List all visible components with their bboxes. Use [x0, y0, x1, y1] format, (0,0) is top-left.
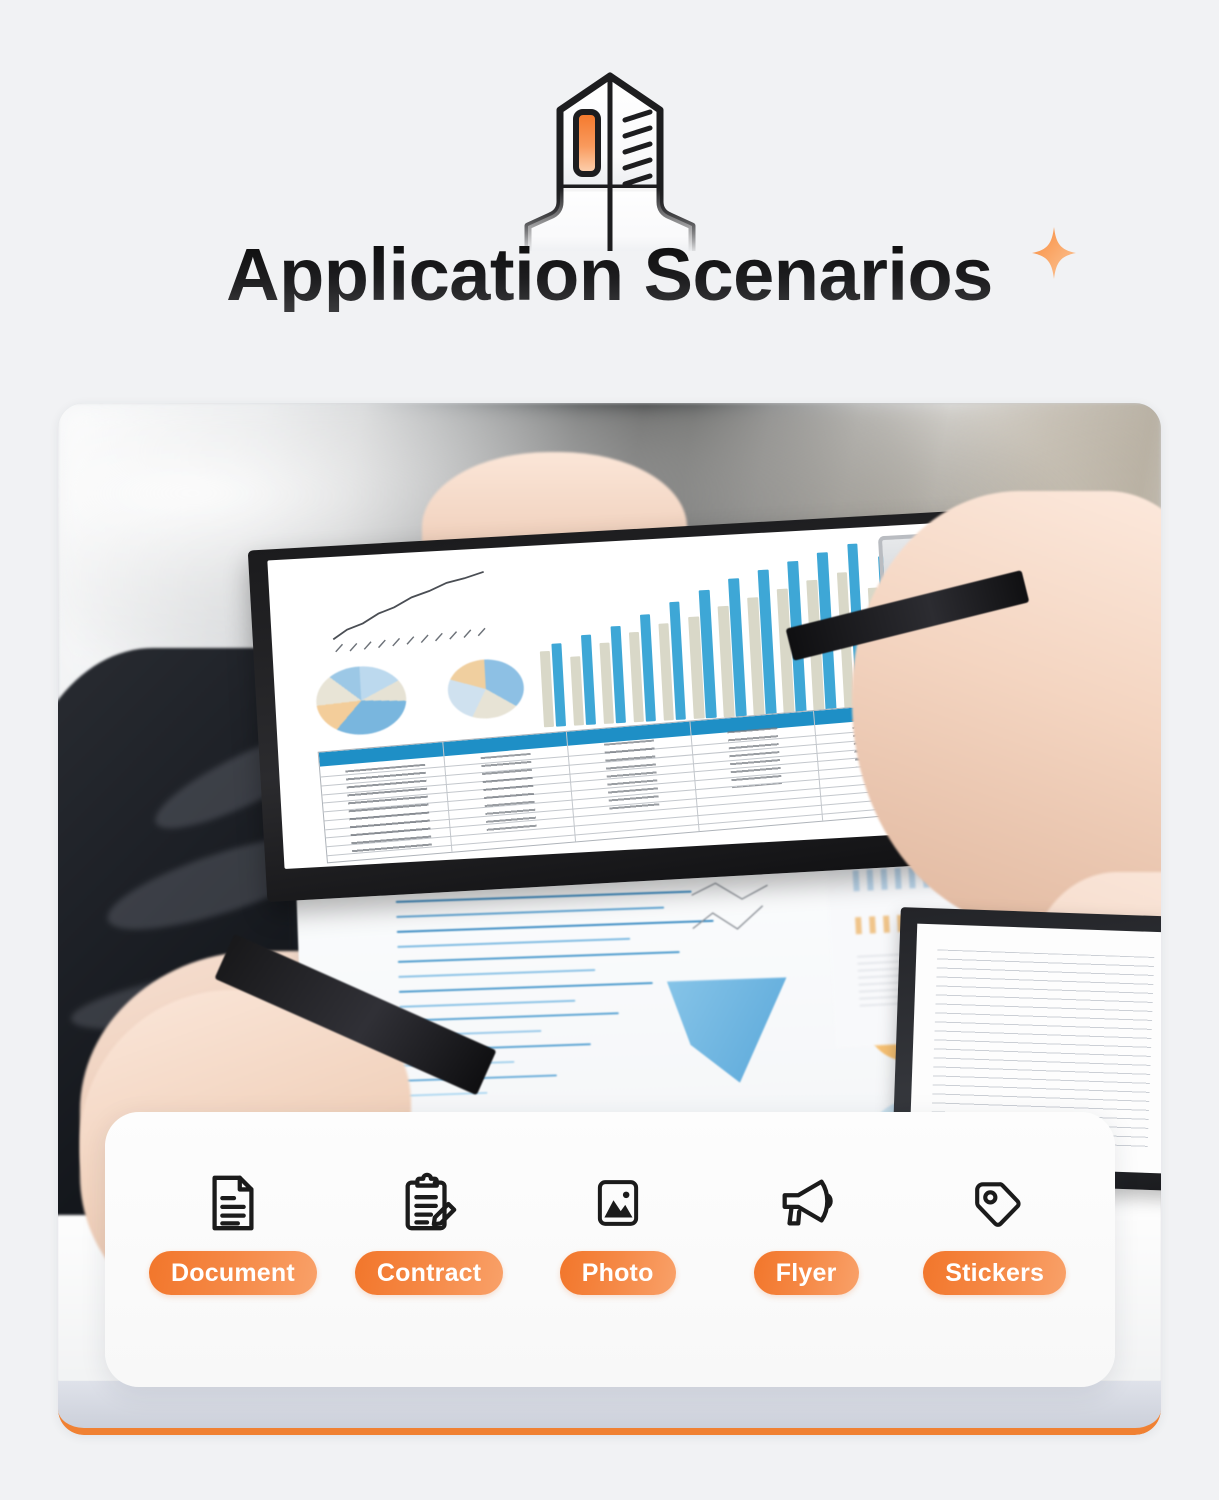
- feature-item-document[interactable]: Document: [149, 1168, 317, 1295]
- price-tag-icon: [960, 1168, 1030, 1238]
- feature-item-photo[interactable]: Photo: [541, 1168, 694, 1295]
- feature-list: Document Contract: [105, 1168, 1115, 1295]
- document-page-icon: [198, 1168, 268, 1238]
- scenario-feature-card: Document Contract: [105, 1112, 1115, 1387]
- feature-pill-flyer[interactable]: Flyer: [754, 1251, 859, 1295]
- application-scenarios-page: Application Scenarios: [0, 0, 1219, 1500]
- feature-pill-document[interactable]: Document: [149, 1251, 317, 1295]
- photo-clipboard-pie-2: [446, 658, 525, 721]
- feature-item-flyer[interactable]: Flyer: [730, 1168, 883, 1295]
- page-header: Application Scenarios: [0, 0, 1219, 390]
- clipboard-pencil-icon: [394, 1168, 464, 1238]
- feature-item-stickers[interactable]: Stickers: [918, 1168, 1071, 1295]
- photo-bottom-accent-strip: [58, 1381, 1161, 1435]
- building-skyscraper-icon: [500, 66, 720, 251]
- photo-line-doodle: [649, 872, 821, 952]
- feature-pill-contract[interactable]: Contract: [355, 1251, 503, 1295]
- photo-trend-line-chart: [295, 564, 534, 658]
- image-photo-icon: [583, 1168, 653, 1238]
- megaphone-icon: [771, 1168, 841, 1238]
- photo-funnel-chart: [666, 977, 790, 1085]
- feature-pill-stickers[interactable]: Stickers: [923, 1251, 1066, 1295]
- feature-item-contract[interactable]: Contract: [353, 1168, 506, 1295]
- feature-pill-photo[interactable]: Photo: [560, 1251, 676, 1295]
- sparkle-star-icon: [1031, 226, 1077, 280]
- page-title: Application Scenarios: [226, 238, 993, 312]
- photo-clipboard-pie-1: [314, 664, 408, 737]
